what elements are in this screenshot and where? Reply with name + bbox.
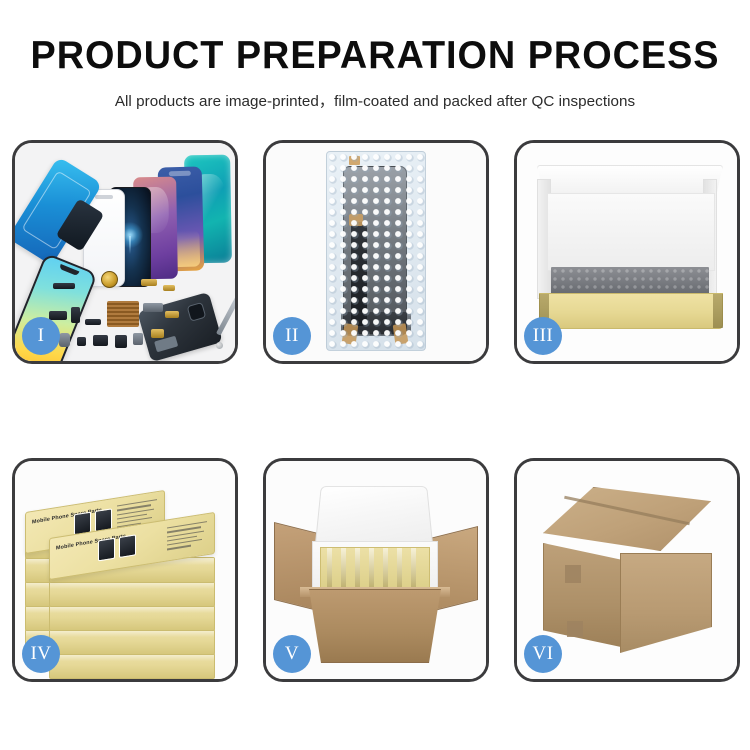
spare-part (163, 285, 175, 291)
process-step-panel-4: Mobile Phone Spare Parts (12, 458, 238, 682)
carton-tape-upper (565, 565, 581, 583)
process-step-grid: I II (12, 140, 740, 682)
yellow-box-front (539, 293, 723, 329)
white-foam-padding (547, 193, 715, 271)
process-step-panel-5: V (263, 458, 489, 682)
step-badge-4: IV (22, 635, 60, 673)
spare-part (141, 279, 157, 286)
page-header: PRODUCT PREPARATION PROCESS All products… (0, 36, 750, 111)
page-subtitle: All products are image-printed，film-coat… (0, 89, 750, 111)
product-preparation-process-page: PRODUCT PREPARATION PROCESS All products… (0, 0, 750, 750)
carton-tape-lower (567, 621, 583, 637)
step-badge-1: I (22, 317, 60, 355)
spare-part (115, 335, 127, 348)
spare-part (77, 337, 86, 346)
box-artwork-phone-2 (119, 534, 136, 558)
logic-board-part (107, 301, 139, 327)
box-artwork-phone-1 (98, 538, 115, 562)
spare-part (85, 319, 101, 325)
spare-part (165, 311, 179, 318)
spare-part (93, 335, 108, 346)
step-badge-2: II (273, 317, 311, 355)
spare-part (133, 333, 143, 345)
step-badge-5: V (273, 635, 311, 673)
process-step-panel-3: III (514, 140, 740, 364)
box-label-text: Mobile Phone Spare Parts (56, 533, 126, 551)
spare-part (59, 333, 70, 347)
step-badge-3: III (524, 317, 562, 355)
process-step-panel-6: VI (514, 458, 740, 682)
styrofoam-lid (315, 486, 433, 545)
screws (216, 342, 223, 349)
speaker-coil-part (101, 271, 118, 288)
spare-part (151, 329, 164, 338)
bubble-texture (327, 152, 425, 350)
process-step-panel-2: II (263, 140, 489, 364)
spare-part (143, 303, 163, 312)
page-title: PRODUCT PREPARATION PROCESS (11, 36, 739, 75)
spare-part (49, 311, 67, 320)
box-spec-lines (167, 521, 207, 553)
spare-part (53, 283, 75, 289)
bubble-wrap-bag (326, 151, 426, 351)
yellow-boxes-inside (320, 547, 430, 589)
step-badge-6: VI (524, 635, 562, 673)
box-label-text: Mobile Phone Spare Parts (32, 507, 102, 525)
process-step-panel-1: I (12, 140, 238, 364)
carton-body (300, 589, 450, 663)
spare-part (71, 307, 80, 323)
